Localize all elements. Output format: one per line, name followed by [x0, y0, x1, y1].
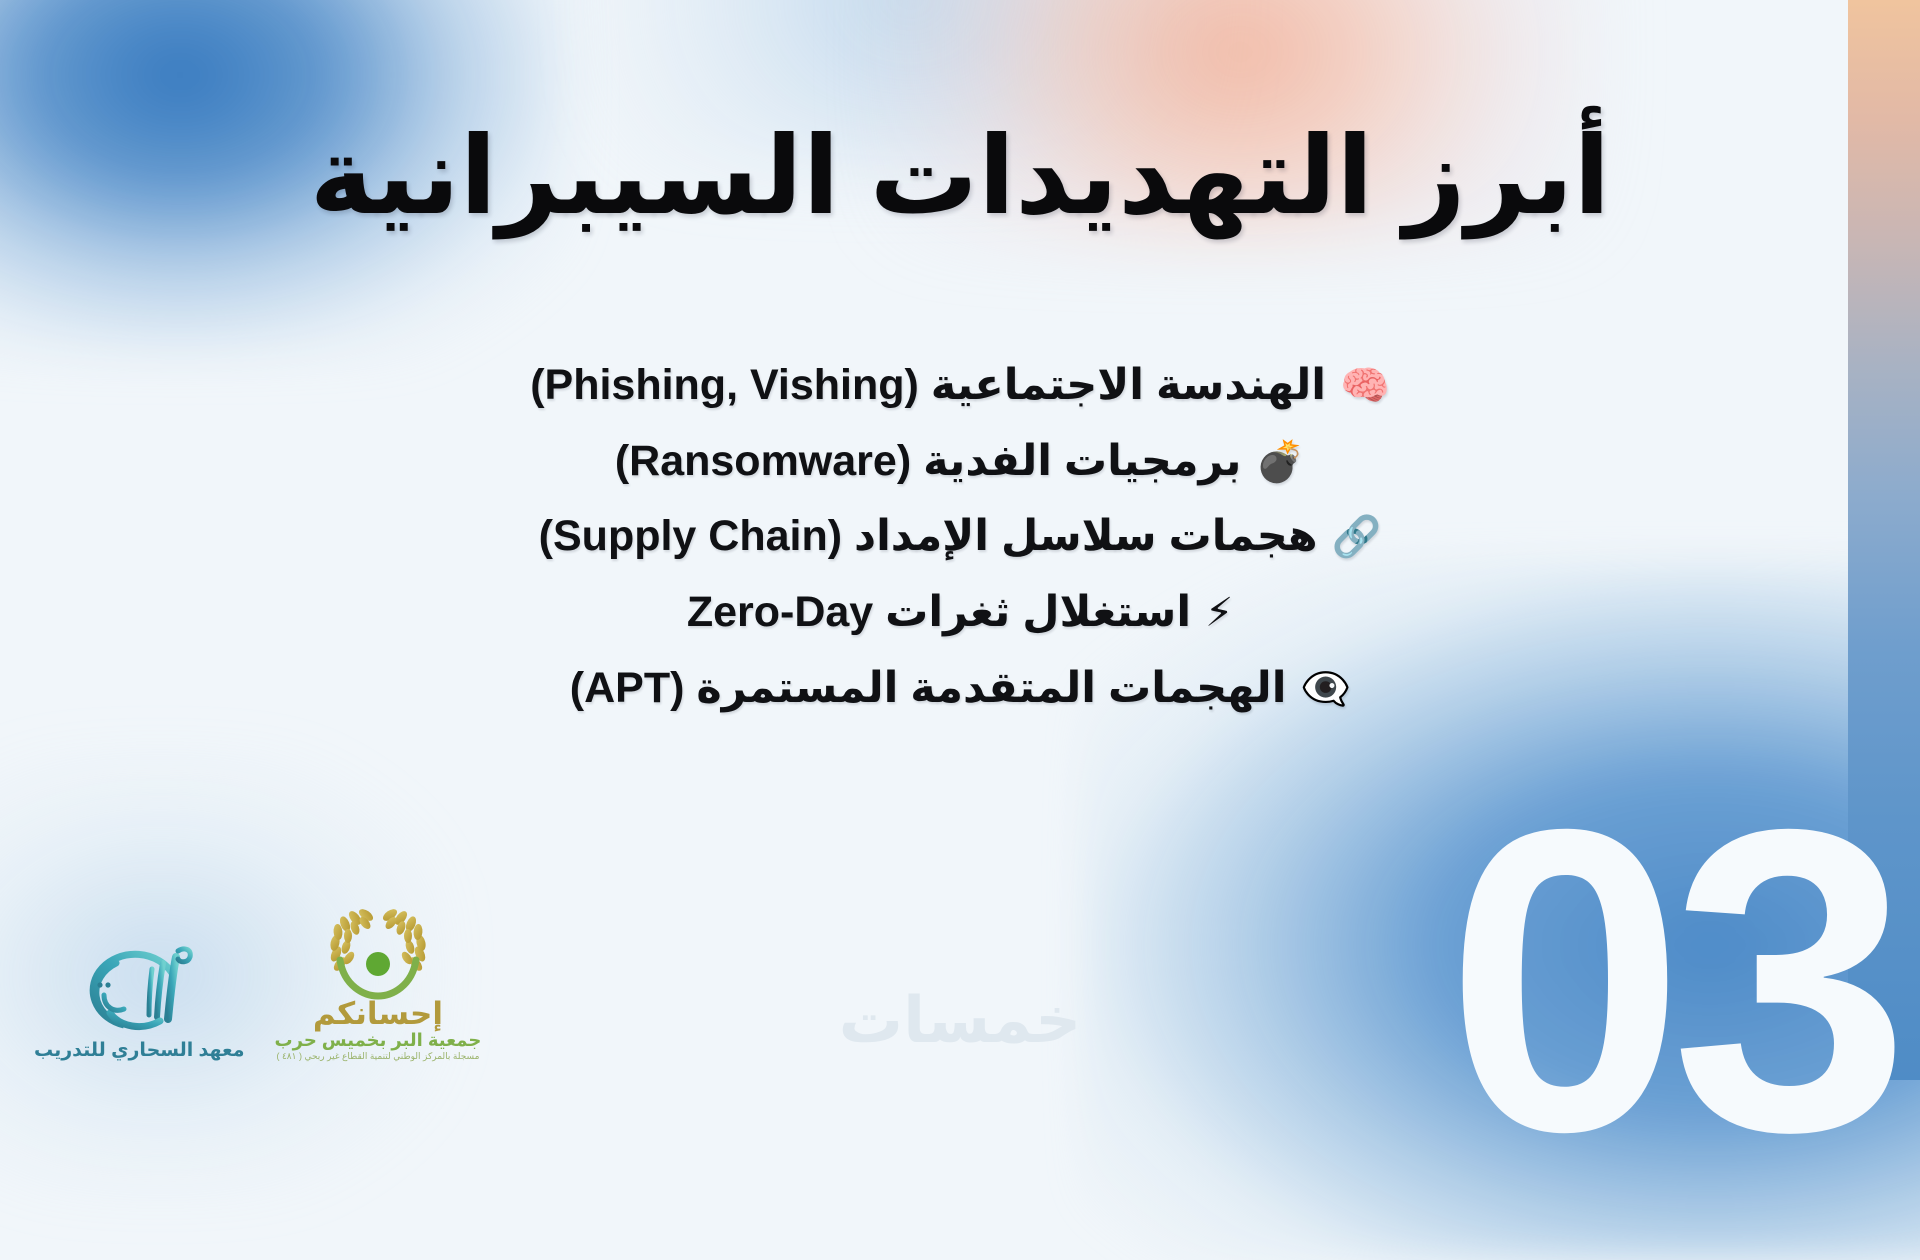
- threat-list: 🧠 الهندسة الاجتماعية (Phishing, Vishing)…: [0, 359, 1920, 716]
- list-item-label: الهندسة الاجتماعية (Phishing, Vishing): [530, 359, 1326, 413]
- list-item: 🔗 هجمات سلاسل الإمداد (Supply Chain): [539, 510, 1382, 564]
- list-item-label: استغلال ثغرات Zero-Day: [687, 586, 1191, 640]
- ehsanokom-wreath-mark-icon: [314, 908, 442, 1000]
- eye-in-speech-bubble-icon: 👁️‍🗨️: [1300, 669, 1350, 709]
- list-item: 🧠 الهندسة الاجتماعية (Phishing, Vishing): [530, 359, 1390, 413]
- list-item-label: هجمات سلاسل الإمداد (Supply Chain): [539, 510, 1318, 564]
- page-title: أبرز التهديدات السيبرانية: [310, 118, 1611, 235]
- sahari-institute-mark-icon: [64, 943, 214, 1035]
- charity-logo-registration: مسجلة بالمركز الوطني لتنمية القطاع غير ر…: [276, 1052, 479, 1062]
- list-item: 👁️‍🗨️ الهجمات المتقدمة المستمرة (APT): [570, 662, 1350, 716]
- charity-logo-subtitle: جمعية البر بخميس حرب: [275, 1031, 482, 1051]
- institute-logo-caption: معهد السحاري للتدريب: [34, 1039, 245, 1062]
- charity-logo-name: إحسانكم: [313, 998, 443, 1029]
- brain-icon: 🧠: [1340, 366, 1390, 406]
- charity-logo: إحسانكم جمعية البر بخميس حرب مسجلة بالمر…: [275, 908, 482, 1062]
- lightning-icon: ⚡: [1205, 593, 1233, 633]
- institute-logo: معهد السحاري للتدريب: [34, 943, 245, 1062]
- logo-bar: معهد السحاري للتدريب: [34, 908, 481, 1062]
- list-item-label: الهجمات المتقدمة المستمرة (APT): [570, 662, 1287, 716]
- khamsat-watermark: خمسات: [839, 983, 1082, 1058]
- list-item: 💣 برمجيات الفدية (Ransomware): [615, 435, 1305, 489]
- list-item-label: برمجيات الفدية (Ransomware): [615, 435, 1242, 489]
- list-item: ⚡ استغلال ثغرات Zero-Day: [687, 586, 1233, 640]
- link-icon: 🔗: [1332, 517, 1382, 557]
- bomb-icon: 💣: [1255, 442, 1305, 482]
